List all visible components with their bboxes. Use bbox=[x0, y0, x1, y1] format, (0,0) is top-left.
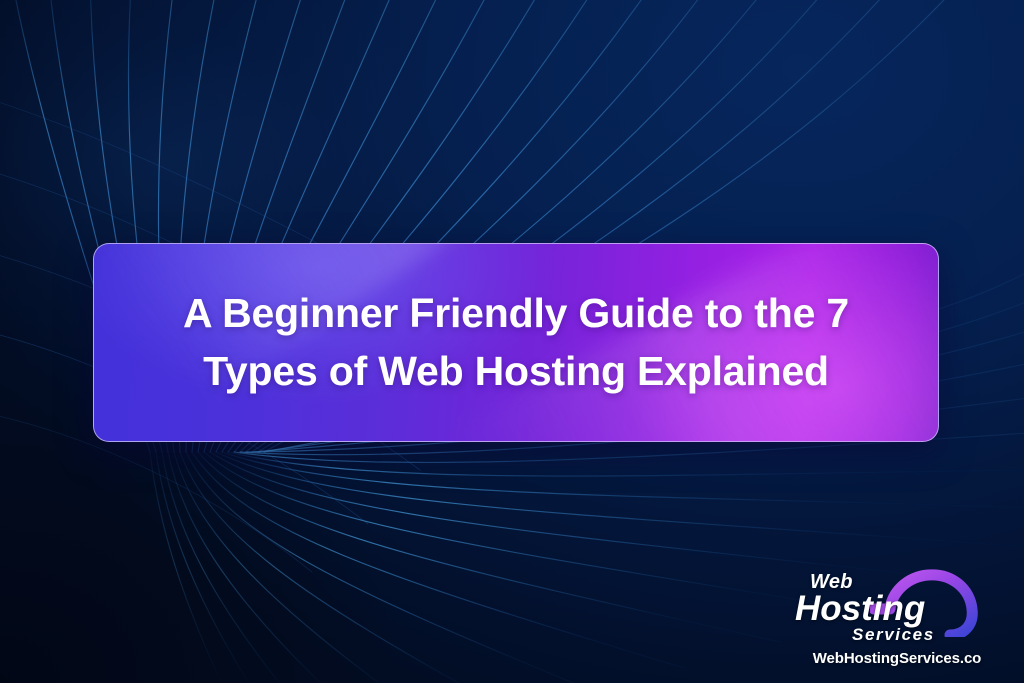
logo-word-hosting: Hosting bbox=[795, 589, 925, 629]
headline-card: A Beginner Friendly Guide to the 7 Types… bbox=[93, 243, 939, 442]
logo-word-services: Services bbox=[852, 625, 935, 645]
brand-logo[interactable]: Web Hosting Services WebHostingServices.… bbox=[792, 563, 1002, 669]
slide-canvas: A Beginner Friendly Guide to the 7 Types… bbox=[0, 0, 1024, 683]
logo-domain-text: WebHostingServices.co bbox=[792, 650, 1002, 667]
headline-line-1: A Beginner Friendly Guide to the 7 bbox=[183, 286, 849, 341]
headline-line-2: Types of Web Hosting Explained bbox=[203, 344, 829, 399]
page-title: A Beginner Friendly Guide to the 7 Types… bbox=[94, 244, 938, 441]
